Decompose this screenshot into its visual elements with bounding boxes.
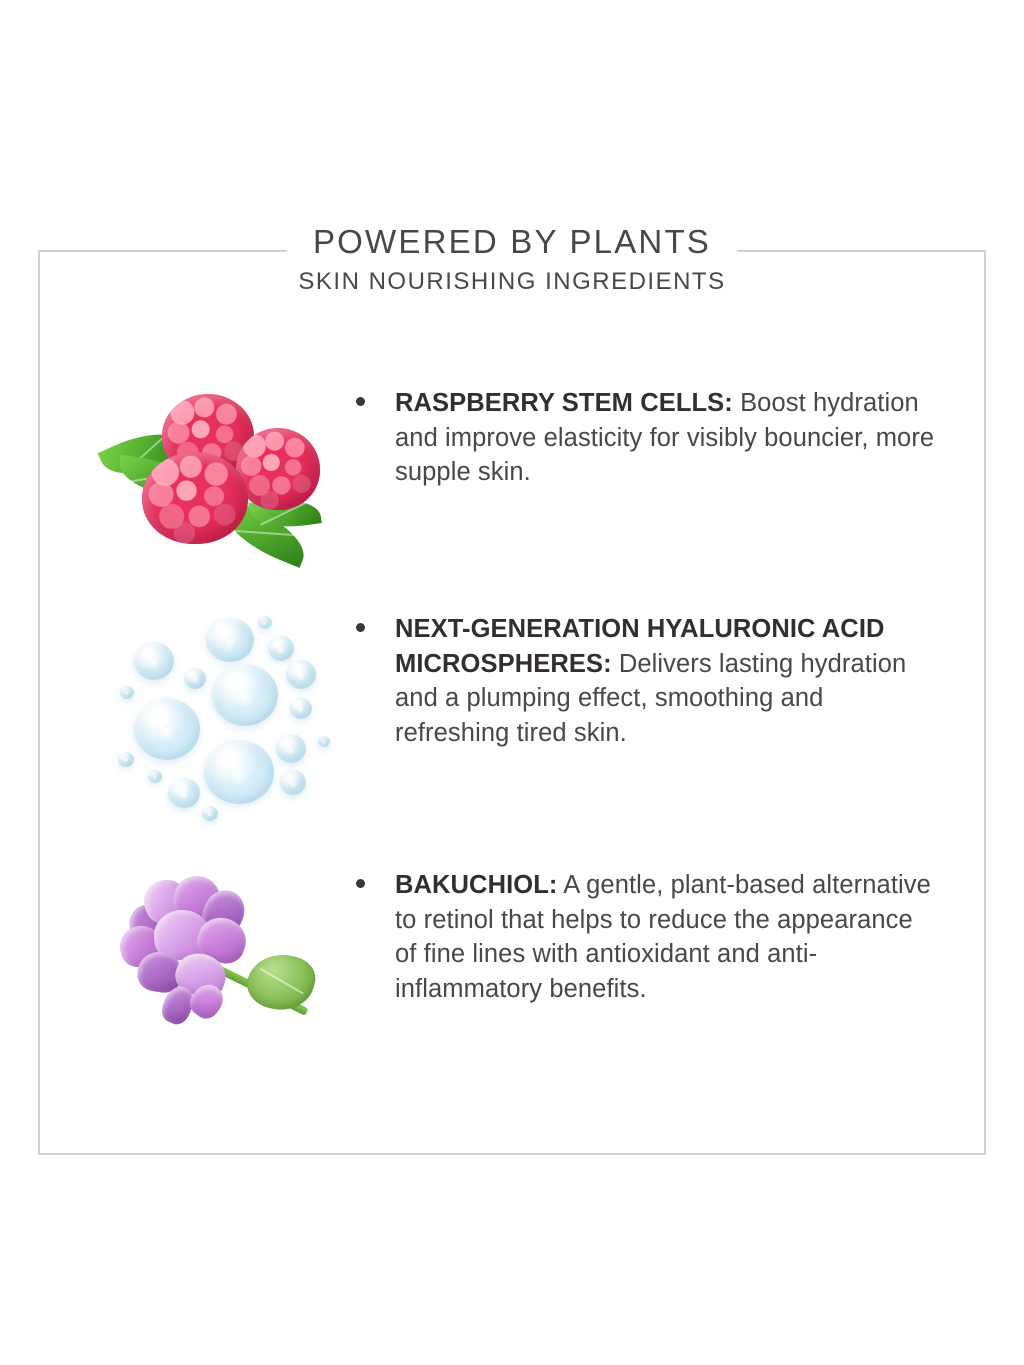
ingredient-term: BAKUCHIOL: — [395, 871, 557, 899]
header: POWERED BY PLANTS SKIN NOURISHING INGRED… — [0, 222, 1024, 296]
bullet-icon — [356, 879, 365, 888]
droplet — [134, 698, 200, 760]
ingredient-term: RASPBERRY STEM CELLS: — [395, 389, 733, 417]
droplet — [268, 636, 294, 661]
page-title-wrapper: POWERED BY PLANTS — [287, 222, 737, 262]
flower-leaf — [242, 947, 320, 1017]
page-subtitle: SKIN NOURISHING INGREDIENTS — [284, 268, 739, 297]
ingredient-text: BAKUCHIOL: A gentle, plant-based alterna… — [362, 868, 940, 1007]
droplet — [204, 740, 274, 804]
droplet — [184, 668, 206, 689]
bullet-icon — [356, 397, 365, 406]
droplet — [120, 686, 134, 699]
droplet — [258, 616, 272, 629]
droplet — [148, 770, 162, 783]
droplet — [276, 734, 306, 763]
page-title: POWERED BY PLANTS — [313, 222, 711, 262]
droplet — [206, 618, 254, 662]
droplet — [168, 778, 200, 808]
ingredient-copy: RASPBERRY STEM CELLS: Boost hydration an… — [350, 386, 940, 490]
ingredient-text: NEXT-GENERATION HYALURONIC ACID MICROSPH… — [362, 612, 940, 751]
droplet — [212, 664, 278, 726]
raspberry-fruit — [142, 452, 248, 544]
water-droplets-image — [100, 612, 350, 837]
ingredient-copy: BAKUCHIOL: A gentle, plant-based alterna… — [350, 868, 940, 1007]
droplet — [202, 806, 218, 821]
ingredient-row-hyaluronic-acid-microspheres: NEXT-GENERATION HYALURONIC ACID MICROSPH… — [100, 612, 940, 837]
droplet — [118, 752, 134, 767]
droplet — [318, 736, 330, 747]
page-subtitle-wrapper: SKIN NOURISHING INGREDIENTS — [0, 268, 1024, 297]
ingredient-text: RASPBERRY STEM CELLS: Boost hydration an… — [362, 386, 940, 490]
ingredient-row-bakuchiol: BAKUCHIOL: A gentle, plant-based alterna… — [100, 868, 940, 1048]
raspberry-fruit — [236, 428, 320, 510]
droplet — [280, 770, 306, 795]
purple-flower-image — [100, 868, 350, 1048]
ingredient-copy: NEXT-GENERATION HYALURONIC ACID MICROSPH… — [350, 612, 940, 751]
droplet — [134, 642, 174, 680]
ingredient-row-raspberry-stem-cells: RASPBERRY STEM CELLS: Boost hydration an… — [100, 386, 940, 576]
droplet — [290, 698, 312, 719]
droplet — [286, 660, 316, 689]
bullet-icon — [356, 623, 365, 632]
raspberries-image — [100, 386, 350, 576]
